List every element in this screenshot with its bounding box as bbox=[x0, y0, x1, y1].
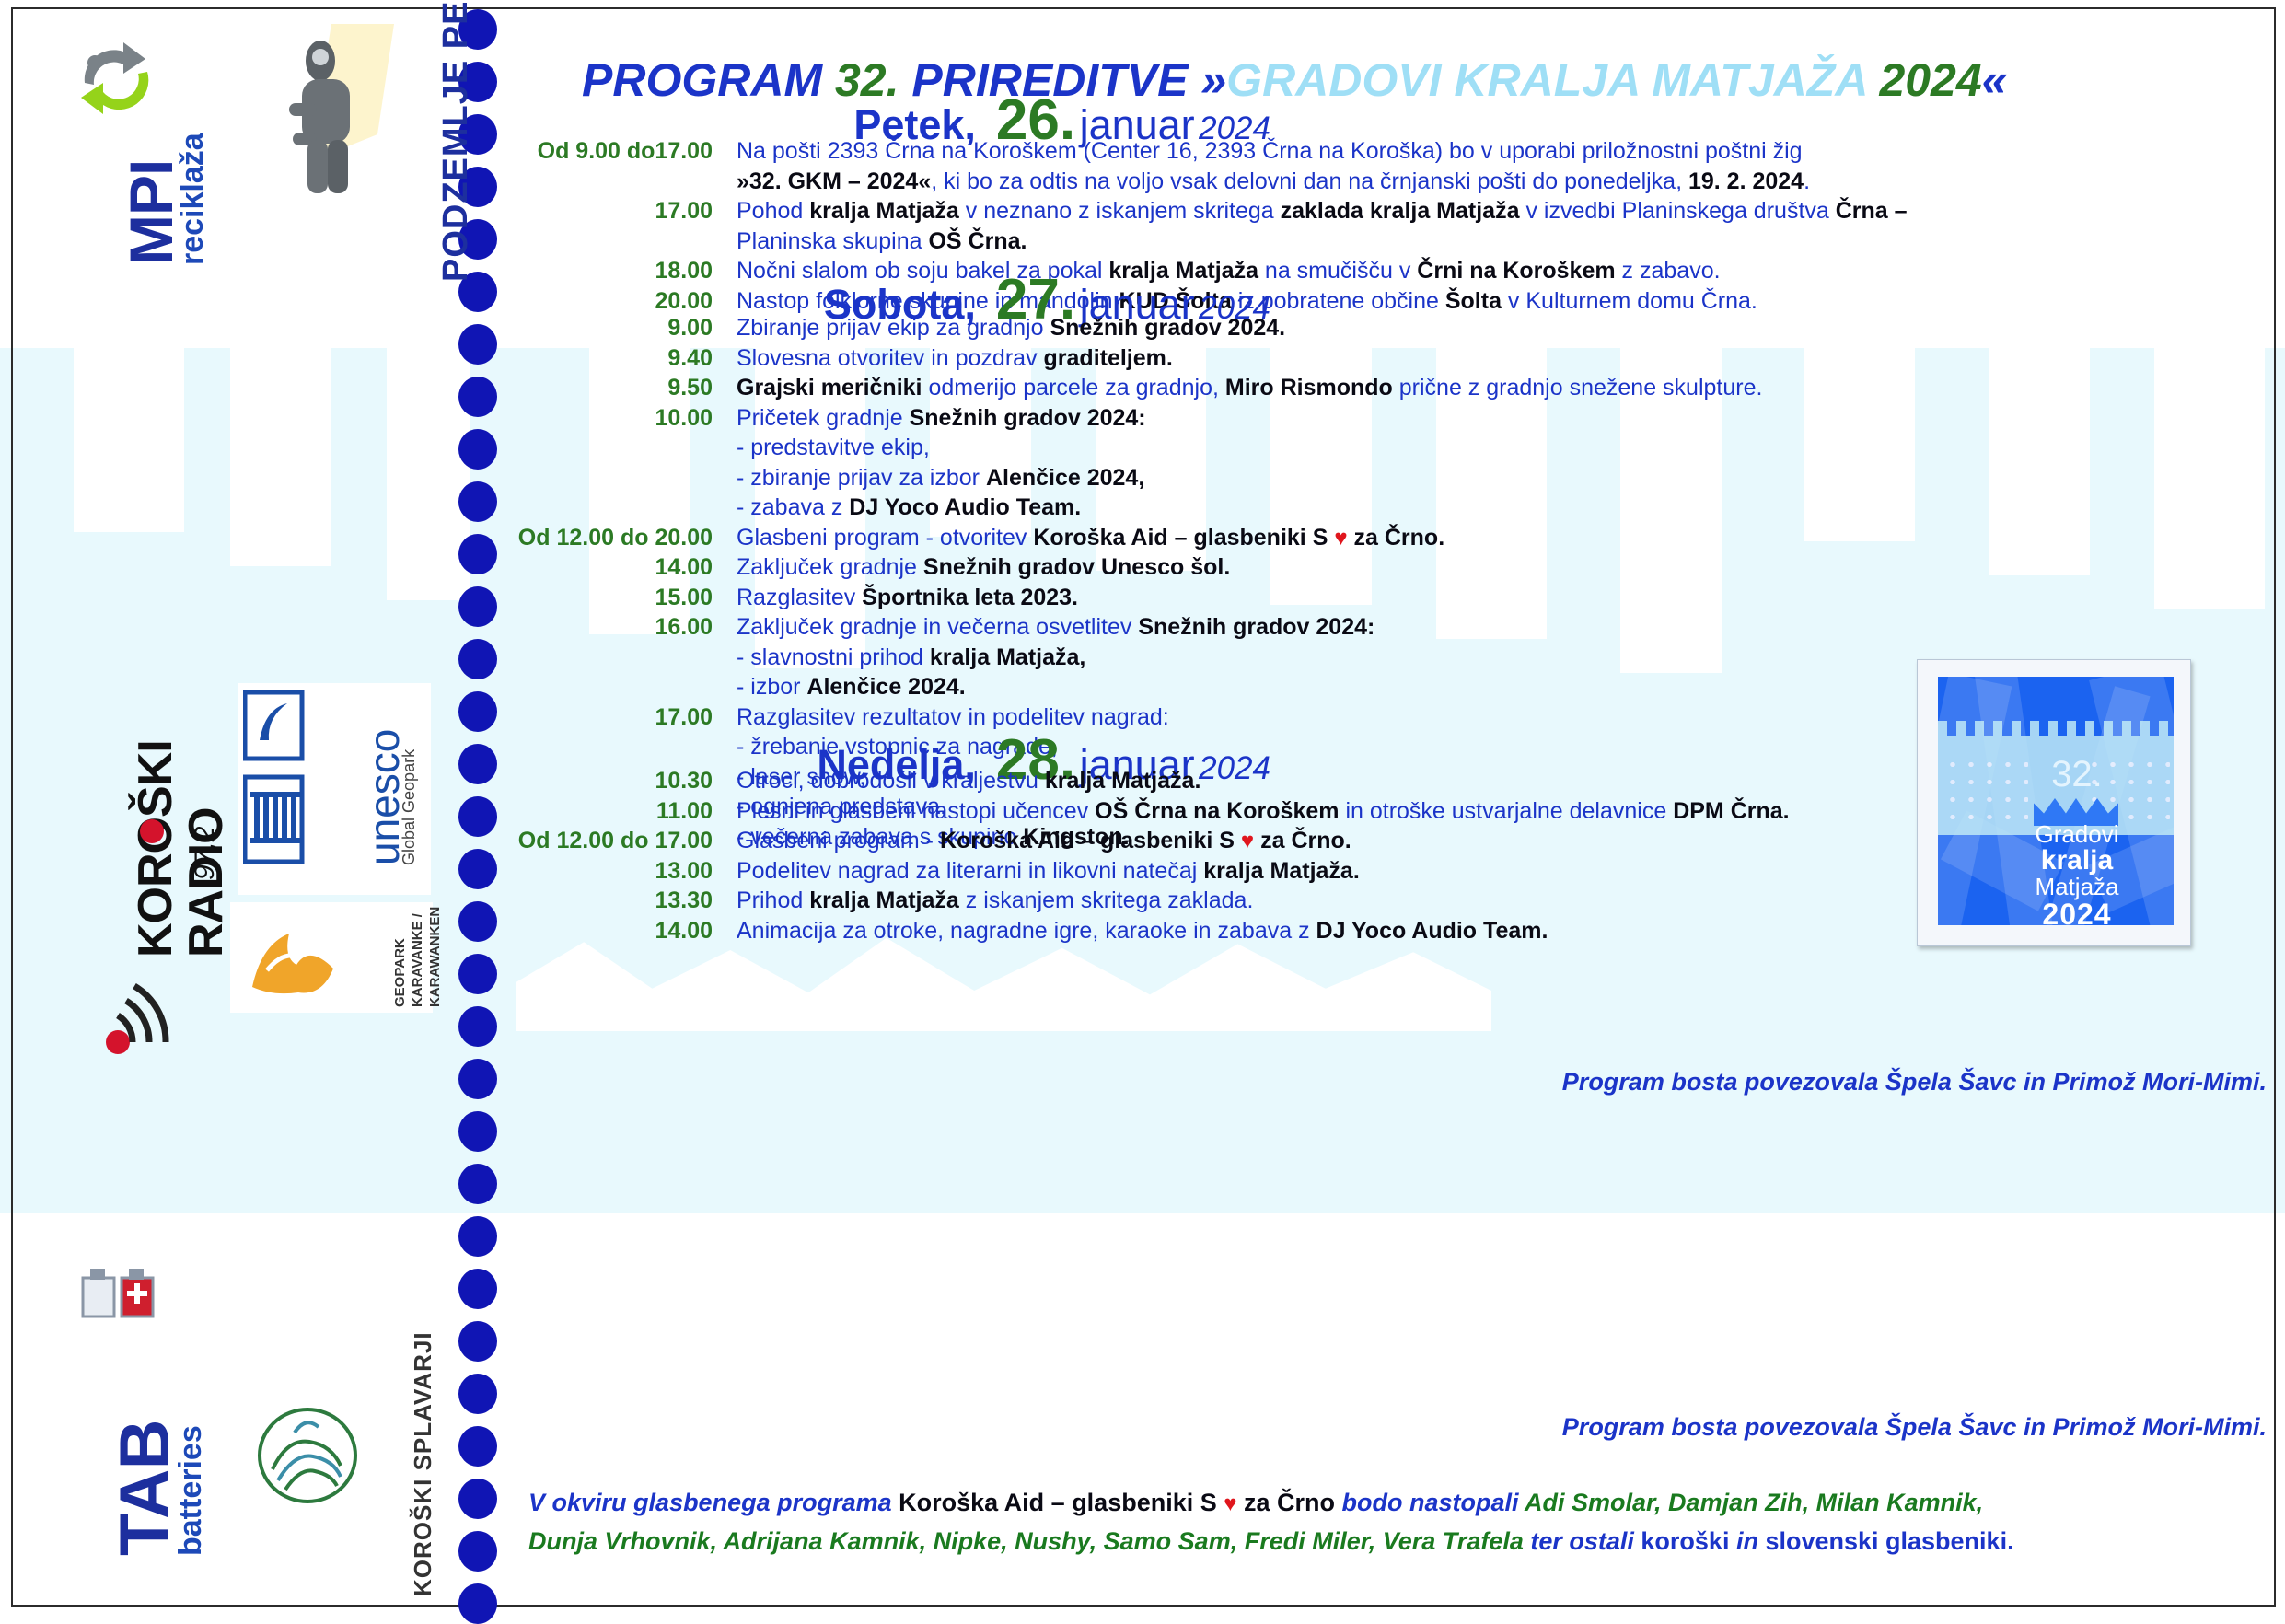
spine-dot bbox=[458, 1583, 497, 1624]
program-row: 15.00Razglasitev Športnika leta 2023. bbox=[516, 583, 2283, 613]
footer-l2-d: in bbox=[1729, 1527, 1765, 1555]
row-time: 16.00 bbox=[516, 612, 737, 643]
row-description: Pričetek gradnje Snežnih gradov 2024:- p… bbox=[737, 403, 1146, 523]
footer-l2-a: Dunja Vrhovnik, Adrijana Kamnik, Nipke, … bbox=[528, 1527, 1524, 1555]
footer-l1-e: Adi Smolar, Damjan Zih, Milan Kamnik, bbox=[1525, 1489, 1983, 1516]
spine-dot bbox=[458, 1479, 497, 1519]
row-time: 10.30 bbox=[516, 766, 737, 796]
row-description: Plesni in glasbeni nastopi učencev OŠ Čr… bbox=[737, 796, 1790, 827]
event-poster-stamp: 32. Gradovi kralja Matjaža 2024 bbox=[1917, 659, 2191, 946]
geopark-karavanke-wordmark: GEOPARK KARAVANKE / KARAWANKEN bbox=[392, 906, 444, 1007]
heart-icon: ♥ bbox=[1334, 526, 1347, 551]
program-row: 9.00Zbiranje prijav ekip za gradnjo Snež… bbox=[516, 313, 2283, 343]
sponsor-logo-rail: MPI reciklaža PODZEMLJE PECE KOROŠKI RAD… bbox=[0, 0, 458, 1616]
spine-dot bbox=[458, 1111, 497, 1152]
footer-note: V okviru glasbenega programa Koroška Aid… bbox=[528, 1484, 2278, 1561]
koroski-radio-dot-icon bbox=[140, 819, 164, 843]
spine-dot bbox=[458, 1374, 497, 1414]
row-description: Otroci, dobrodošli v kraljestvu kralja M… bbox=[737, 766, 1200, 796]
spine-dot bbox=[458, 849, 497, 889]
row-sub-item: - slavnostni prihod kralja Matjaža, bbox=[737, 644, 1085, 670]
spine-dot bbox=[458, 901, 497, 942]
row-sub-item: - predstavitve ekip, bbox=[737, 435, 930, 460]
koroski-splavarji-wordmark: KOROŠKI SPLAVARJI bbox=[409, 1331, 437, 1596]
row-sub-item: - zabava z DJ Yoco Audio Team. bbox=[737, 494, 1081, 520]
row-description: Prihod kralja Matjaža z iskanjem skriteg… bbox=[737, 886, 1253, 916]
stamp-line-2: kralja bbox=[2023, 847, 2131, 876]
footer-l2-b: ter ostali bbox=[1524, 1527, 1641, 1555]
tab-subtext: batteries bbox=[173, 1425, 209, 1556]
row-time: 13.30 bbox=[516, 886, 737, 916]
heart-icon: ♥ bbox=[1241, 829, 1254, 853]
row-description: Zaključek gradnje Snežnih gradov Unesco … bbox=[737, 552, 1230, 583]
spine-dot bbox=[458, 796, 497, 837]
unesco-subtext: Global Geopark bbox=[400, 749, 419, 865]
stamp-edition-number: 32. bbox=[2026, 754, 2128, 795]
row-description: Animacija za otroke, nagradne igre, kara… bbox=[737, 916, 1548, 946]
spine-dot bbox=[458, 1216, 497, 1257]
podzemlje-pece-logo: PODZEMLJE PECE bbox=[267, 24, 451, 300]
spine-dot bbox=[458, 1531, 497, 1572]
footer-l2-c: koroški bbox=[1641, 1527, 1729, 1555]
spine-dot bbox=[458, 639, 497, 679]
row-description: Grajski meričniki odmerijo parcele za gr… bbox=[737, 373, 1762, 403]
koroski-radio-frequency: 97,2 bbox=[190, 827, 221, 880]
program-row: 9.40Slovesna otvoritev in pozdrav gradit… bbox=[516, 343, 2283, 374]
row-time: Od 12.00 do 20.00 bbox=[516, 523, 737, 553]
row-description: Slovesna otvoritev in pozdrav graditelje… bbox=[737, 343, 1173, 374]
row-time: Od 9.00 do17.00 bbox=[516, 136, 737, 167]
spine-dot bbox=[458, 324, 497, 365]
row-time: 17.00 bbox=[516, 196, 737, 226]
program-row: 17.00Pohod kralja Matjaža v neznano z is… bbox=[516, 196, 2283, 256]
stamp-artwork: 32. Gradovi kralja Matjaža 2024 bbox=[1938, 677, 2174, 925]
row-description: Zbiranje prijav ekip za gradnjo Snežnih … bbox=[737, 313, 1285, 343]
footer-l1-c: za Črno bbox=[1237, 1489, 1336, 1516]
row-time: 14.00 bbox=[516, 552, 737, 583]
row-description: Glasbeni program - otvoritev Koroška Aid… bbox=[737, 523, 1444, 553]
row-sub-item: - izbor Alenčice 2024. bbox=[737, 674, 966, 700]
title-event-name: GRADOVI KRALJA MATJAŽA bbox=[1226, 54, 1866, 106]
spine-dot bbox=[458, 744, 497, 784]
program-row: 9.50Grajski meričniki odmerijo parcele z… bbox=[516, 373, 2283, 403]
spine-dot bbox=[458, 1426, 497, 1467]
spine-dot bbox=[458, 1059, 497, 1099]
heart-icon: ♥ bbox=[1224, 1491, 1236, 1516]
row-time: Od 12.00 do 17.00 bbox=[516, 826, 737, 856]
spine-dot bbox=[458, 586, 497, 627]
row-time: 9.00 bbox=[516, 313, 737, 343]
row-description: Pohod kralja Matjaža v neznano z iskanje… bbox=[737, 196, 1908, 256]
program-row: 10.00Pričetek gradnje Snežnih gradov 202… bbox=[516, 403, 2283, 523]
program-row: Od 12.00 do 20.00Glasbeni program - otvo… bbox=[516, 523, 2283, 553]
stamp-title-text: Gradovi kralja Matjaža 2024 bbox=[2023, 822, 2131, 925]
spine-dot bbox=[458, 1006, 497, 1047]
spine-dot bbox=[458, 377, 497, 417]
spine-dot bbox=[458, 1269, 497, 1309]
row-description: Razglasitev Športnika leta 2023. bbox=[737, 583, 1078, 613]
row-time: 9.50 bbox=[516, 373, 737, 403]
title-quote-close: « bbox=[1982, 54, 2008, 106]
podzemlje-pece-wordmark: PODZEMLJE PECE bbox=[436, 0, 476, 282]
moderators-note: Program bosta povezovala Špela Šavc in P… bbox=[1562, 1413, 2267, 1442]
footer-l1-b: Koroška Aid – glasbeniki S bbox=[899, 1489, 1224, 1516]
row-sub-item: - zbiranje prijav za izbor Alenčice 2024… bbox=[737, 465, 1144, 491]
row-description: Glasbeni program - Koroška Aid – glasben… bbox=[737, 826, 1351, 856]
stamp-line-1: Gradovi bbox=[2023, 822, 2131, 847]
mpi-subtext: reciklaža bbox=[175, 133, 211, 265]
spine-dot bbox=[458, 954, 497, 994]
tab-batteries-logo: TAB batteries bbox=[28, 1261, 221, 1574]
spine-dot bbox=[458, 534, 497, 574]
row-time: 14.00 bbox=[516, 916, 737, 946]
spine-dot bbox=[458, 691, 497, 732]
row-description: Zaključek gradnje in večerna osvetlitev … bbox=[737, 612, 1374, 702]
row-description: Na pošti 2393 Črna na Koroškem (Center 1… bbox=[737, 136, 1810, 196]
footer-l1-a: V okviru glasbenega programa bbox=[528, 1489, 899, 1516]
koroski-radio-wordmark: KOROŠKI RADIO bbox=[131, 626, 231, 957]
moderators-note: Program bosta povezovala Špela Šavc in P… bbox=[1562, 1068, 2267, 1096]
row-time: 10.00 bbox=[516, 403, 737, 434]
mpi-reciklaza-logo: MPI reciklaža bbox=[28, 28, 212, 285]
program-row: 14.00Zaključek gradnje Snežnih gradov Un… bbox=[516, 552, 2283, 583]
title-year: 2024 bbox=[1867, 54, 1982, 106]
koroski-splavarji-logo: KOROŠKI SPLAVARJI bbox=[249, 1381, 451, 1602]
spine-dot bbox=[458, 481, 497, 522]
footer-l1-d: bodo nastopali bbox=[1335, 1489, 1525, 1516]
row-time: 9.40 bbox=[516, 343, 737, 374]
footer-l2-e: slovenski glasbeniki. bbox=[1765, 1527, 2013, 1555]
program-row: Od 9.00 do17.00Na pošti 2393 Črna na Kor… bbox=[516, 136, 2283, 196]
stamp-line-4: 2024 bbox=[2023, 899, 2131, 925]
spine-dot bbox=[458, 429, 497, 470]
spine-dot bbox=[458, 1321, 497, 1362]
spine-dot bbox=[458, 1164, 497, 1204]
unesco-logo: unesco Global Geopark bbox=[238, 683, 431, 895]
geopark-karavanke-logo: GEOPARK KARAVANKE / KARAWANKEN bbox=[230, 902, 433, 1013]
row-time: 15.00 bbox=[516, 583, 737, 613]
row-description: Podelitev nagrad za literarni in likovni… bbox=[737, 856, 1360, 887]
row-time: 11.00 bbox=[516, 796, 737, 827]
row-time: 13.00 bbox=[516, 856, 737, 887]
stamp-line-3: Matjaža bbox=[2023, 875, 2131, 899]
